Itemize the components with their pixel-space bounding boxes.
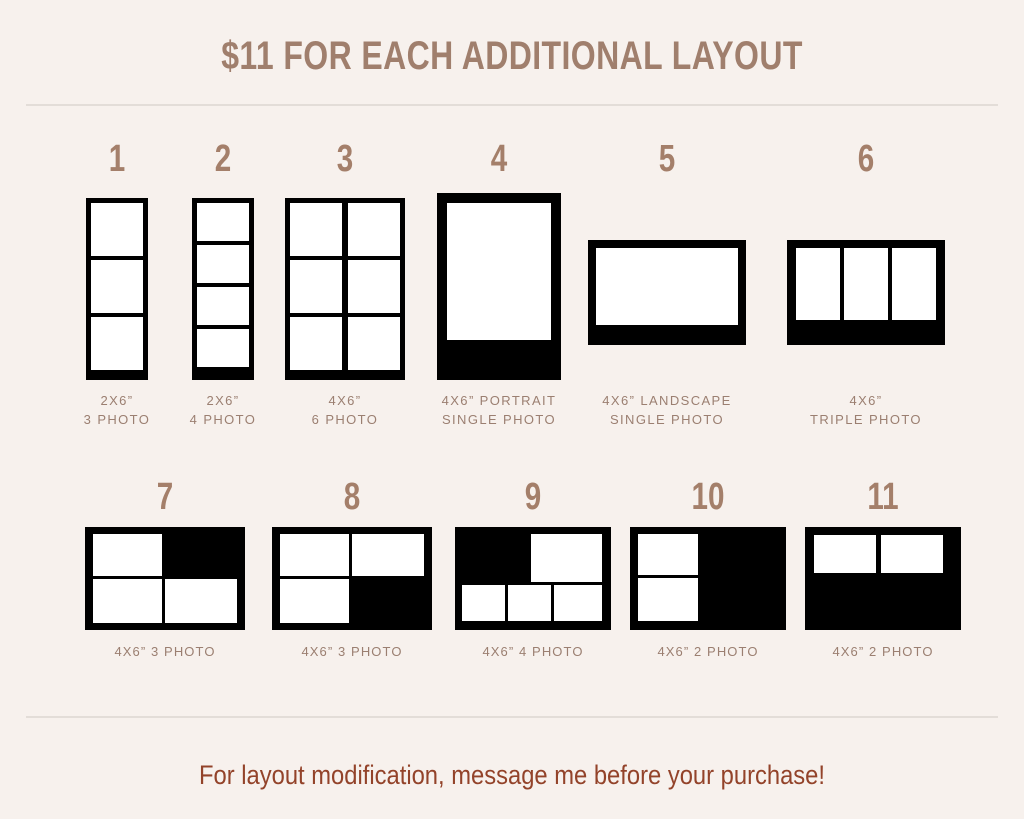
page-title: $11 FOR EACH ADDITIONAL LAYOUT [102, 34, 921, 79]
photo-cell [352, 534, 424, 576]
layout-frame [86, 198, 148, 380]
layout-frame [272, 527, 432, 630]
photo-cell [844, 248, 888, 320]
layout-number: 5 [605, 140, 728, 178]
layout-number: 1 [93, 140, 141, 178]
photo-cell [93, 534, 162, 576]
photo-cell [91, 317, 143, 370]
layout-number: 9 [472, 478, 594, 516]
photo-cell [814, 535, 876, 573]
layout-frame [285, 198, 405, 380]
layout-number: 8 [290, 478, 415, 516]
layout-frame [455, 527, 611, 630]
photo-cell [462, 585, 505, 621]
photo-cell [290, 260, 342, 313]
layout-frame [192, 198, 254, 380]
layout-number: 4 [451, 140, 548, 178]
layout-frame [805, 527, 961, 630]
layout-number: 7 [103, 478, 228, 516]
photo-cell [881, 535, 943, 573]
photo-cell [197, 203, 249, 241]
photo-cell [197, 287, 249, 325]
layout-number: 3 [298, 140, 392, 178]
photo-cell [91, 203, 143, 256]
photo-cell [892, 248, 936, 320]
photo-cell [290, 203, 342, 256]
layout-frame [85, 527, 245, 630]
photo-cell [508, 585, 551, 621]
photo-cell [348, 203, 400, 256]
divider-bottom [26, 716, 998, 718]
photo-cell [638, 578, 698, 621]
layout-number: 2 [199, 140, 247, 178]
layout-number: 11 [822, 478, 944, 516]
layout-number: 6 [804, 140, 927, 178]
photo-cell [796, 248, 840, 320]
layout-number: 10 [647, 478, 769, 516]
layout-caption: 4X6” TRIPLE PHOTO [757, 392, 975, 430]
layout-caption: 2X6” 3 PHOTO [56, 392, 178, 430]
layout-caption: 4X6” LANDSCAPE SINGLE PHOTO [558, 392, 776, 430]
layout-caption: 4X6” 2 PHOTO [775, 643, 991, 662]
photo-cell [197, 329, 249, 367]
photo-cell [348, 317, 400, 370]
photo-cell [447, 203, 551, 340]
footer-note: For layout modification, message me befo… [61, 760, 962, 791]
photo-cell [554, 585, 602, 621]
layout-frame [437, 193, 561, 380]
photo-cell [197, 245, 249, 283]
photo-cell [290, 317, 342, 370]
photo-cell [93, 579, 162, 623]
photo-cell [165, 579, 237, 623]
layout-options-poster: $11 FOR EACH ADDITIONAL LAYOUT 1 2X6” 3 … [0, 0, 1024, 819]
photo-cell [348, 260, 400, 313]
divider-top [26, 104, 998, 106]
photo-cell [638, 534, 698, 575]
layout-frame [787, 240, 945, 345]
photo-cell [280, 579, 349, 623]
photo-cell [531, 534, 602, 582]
photo-cell [596, 248, 738, 325]
layout-frame [588, 240, 746, 345]
layout-frame [630, 527, 786, 630]
photo-cell [91, 260, 143, 313]
photo-cell [280, 534, 349, 576]
